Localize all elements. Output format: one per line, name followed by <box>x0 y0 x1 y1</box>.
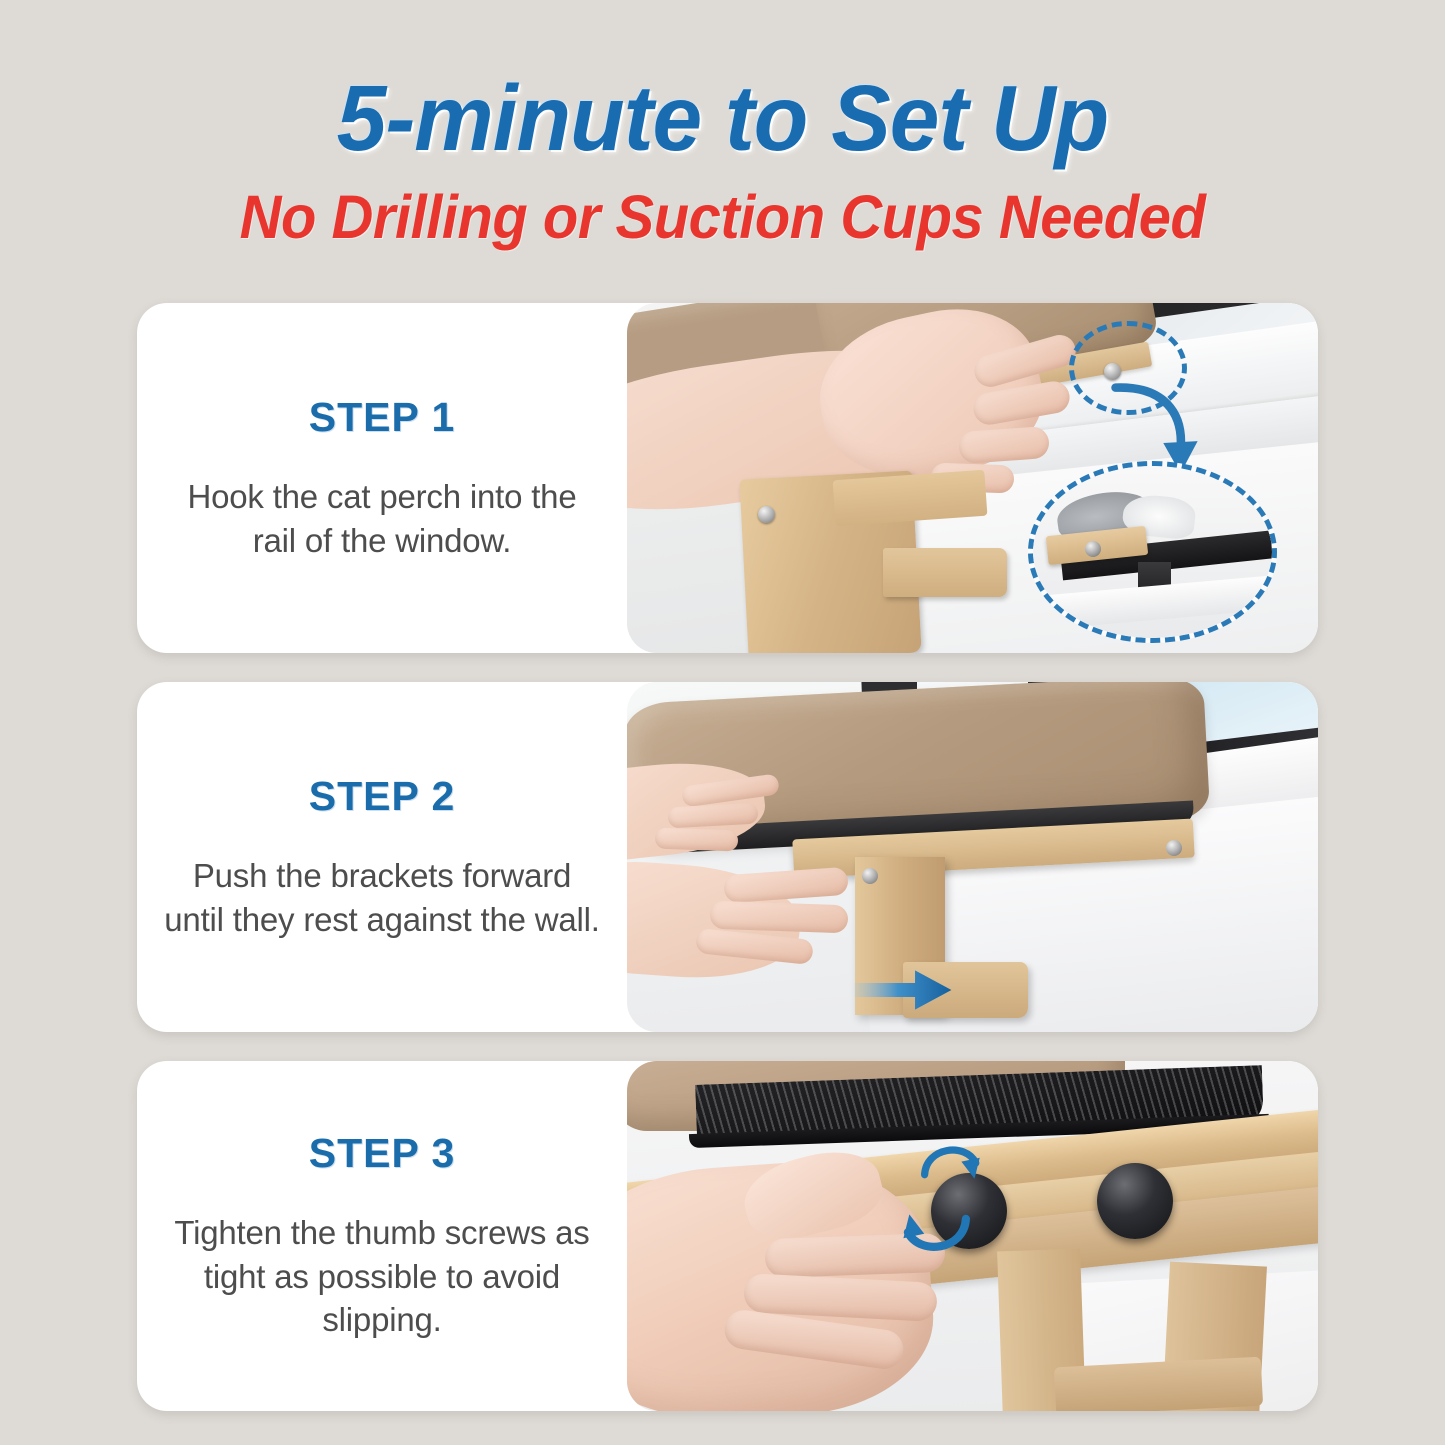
step-2-title: STEP 2 <box>309 773 456 820</box>
step-1-title: STEP 1 <box>309 394 456 441</box>
step-1-text-block: STEP 1 Hook the cat perch into the rail … <box>137 303 627 653</box>
board-screw-right <box>1166 840 1182 856</box>
step-2-description: Push the brackets forward until they res… <box>163 854 601 941</box>
step-2-text-block: STEP 2 Push the brackets forward until t… <box>137 682 627 1032</box>
step-2-scene <box>627 682 1318 1032</box>
step-1-scene <box>627 303 1318 653</box>
rotation-arrow-counterclockwise-icon <box>869 1201 1000 1261</box>
header: 5-minute to Set Up No Drilling or Suctio… <box>0 0 1445 252</box>
step-2-photo <box>627 682 1318 1032</box>
board-screw-left <box>862 868 878 884</box>
step-1-description: Hook the cat perch into the rail of the … <box>163 475 601 562</box>
step-3-text-block: STEP 3 Tighten the thumb screws as tight… <box>137 1061 627 1411</box>
step-3-scene <box>627 1061 1318 1411</box>
step-3-title: STEP 3 <box>309 1130 456 1177</box>
step-card-2: STEP 2 Push the brackets forward until t… <box>137 682 1318 1032</box>
page-subtitle: No Drilling or Suction Cups Needed <box>36 182 1409 252</box>
finger-3 <box>958 426 1050 464</box>
step-card-1: STEP 1 Hook the cat perch into the rail … <box>137 303 1318 653</box>
steps-list: STEP 1 Hook the cat perch into the rail … <box>137 303 1318 1440</box>
step-1-photo <box>627 303 1318 653</box>
finger-upper-3 <box>654 828 738 852</box>
finger-lower-2 <box>709 900 848 933</box>
detail-inset-image <box>1033 466 1272 638</box>
step-3-photo <box>627 1061 1318 1411</box>
push-forward-arrow-icon <box>814 969 994 1011</box>
thumb-screw-knob-right <box>1097 1163 1173 1239</box>
finger-upper-2 <box>668 802 759 828</box>
step-card-3: STEP 3 Tighten the thumb screws as tight… <box>137 1061 1318 1411</box>
page-title: 5-minute to Set Up <box>29 72 1416 165</box>
step-3-description: Tighten the thumb screws as tight as pos… <box>163 1211 601 1342</box>
rotation-arrow-clockwise-icon <box>890 1138 1014 1191</box>
bracket-foot <box>1054 1357 1264 1411</box>
dashed-circle-detail-inset <box>1028 461 1277 643</box>
bracket-hook <box>883 548 1007 597</box>
